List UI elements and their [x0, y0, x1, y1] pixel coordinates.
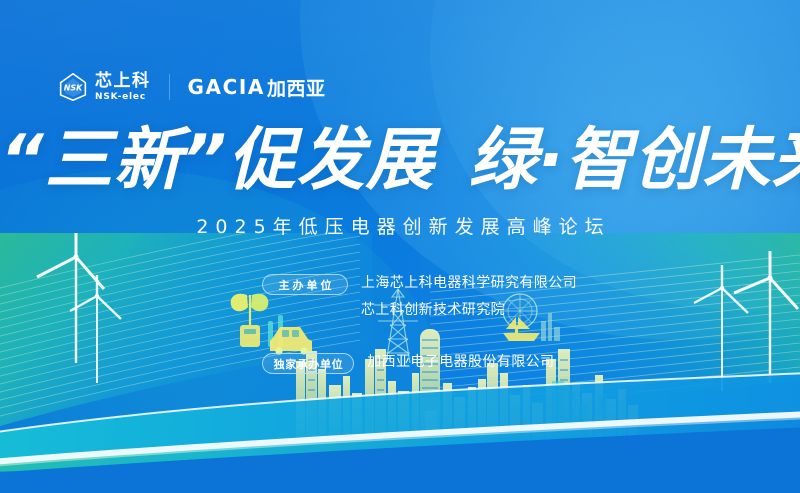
logo-gacia: GACIA 加西亚 — [188, 74, 326, 101]
organizer-badge-exclusive: 独家承办单位 — [262, 353, 354, 374]
organizer-name: 上海芯上科电器科学研究有限公司 — [361, 275, 577, 293]
nsk-hexagon-logo-icon: NSK — [58, 72, 88, 102]
logo-bar: NSK 芯上科 NSK-elec GACIA 加西亚 — [58, 68, 326, 106]
organizer-name: 芯上科创新技术研究院 — [361, 302, 577, 320]
headline-part2: 绿·智创未来 — [469, 124, 800, 197]
organizer-block: 主办单位 上海芯上科电器科学研究有限公司 芯上科创新技术研究院 独家承办单位 加… — [262, 274, 692, 374]
logo-divider — [169, 74, 170, 100]
organizer-names-exclusive: 加西亚电子电器股份有限公司 — [367, 353, 554, 372]
headline-inner: “三新”促发展 绿·智创未来 — [0, 124, 800, 197]
subtitle: 2025年低压电器创新发展高峰论坛 — [0, 212, 800, 239]
headline-part1: “三新”促发展 — [0, 124, 435, 197]
organizer-name: 加西亚电子电器股份有限公司 — [367, 354, 554, 372]
headline: “三新”促发展 绿·智创未来 — [0, 124, 800, 197]
logo-nsk: NSK 芯上科 NSK-elec — [58, 72, 151, 102]
conference-banner: NSK 芯上科 NSK-elec GACIA 加西亚 “三新”促发展 绿·智创未… — [0, 0, 800, 493]
logo-nsk-text: 芯上科 NSK-elec — [95, 73, 151, 102]
logo-nsk-en: NSK-elec — [95, 93, 151, 102]
logo-nsk-cn: 芯上科 — [95, 73, 151, 90]
logo-gacia-cn: 加西亚 — [267, 74, 326, 101]
svg-text:NSK: NSK — [64, 84, 83, 93]
organizer-names-host: 上海芯上科电器科学研究有限公司 芯上科创新技术研究院 — [361, 274, 577, 319]
organizer-badge-host: 主办单位 — [262, 274, 348, 295]
logo-gacia-en: GACIA — [188, 75, 266, 99]
organizer-row-host: 主办单位 上海芯上科电器科学研究有限公司 芯上科创新技术研究院 — [262, 274, 692, 319]
organizer-row-exclusive: 独家承办单位 加西亚电子电器股份有限公司 — [262, 353, 692, 374]
